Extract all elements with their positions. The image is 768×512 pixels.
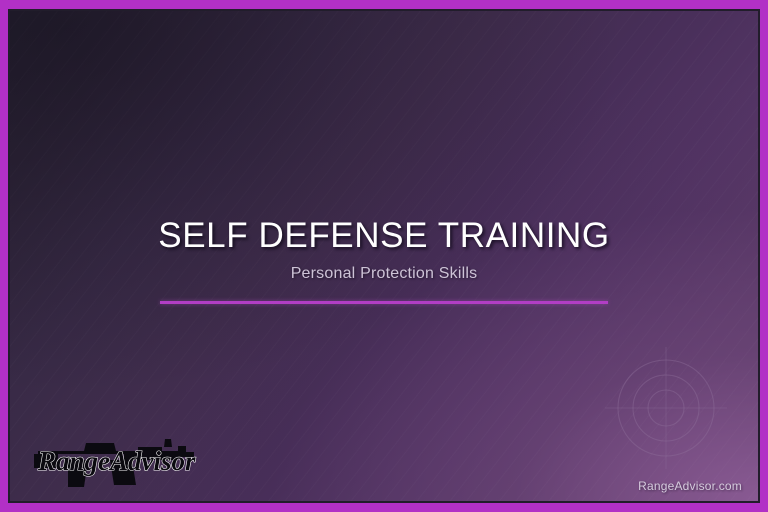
target-crosshair-icon <box>596 338 736 478</box>
logo-wordmark: RangeAdvisor <box>37 446 196 476</box>
footer-url: RangeAdvisor.com <box>638 479 742 493</box>
slide-subtitle: Personal Protection Skills <box>10 265 758 283</box>
slide-title: SELF DEFENSE TRAINING <box>10 217 758 255</box>
title-divider <box>160 301 608 304</box>
rangeadvisor-logo: RangeAdvisor <box>28 421 204 493</box>
title-block: SELF DEFENSE TRAINING Personal Protectio… <box>10 217 758 304</box>
slide-canvas: SELF DEFENSE TRAINING Personal Protectio… <box>10 11 758 501</box>
presentation-slide: SELF DEFENSE TRAINING Personal Protectio… <box>0 0 768 512</box>
